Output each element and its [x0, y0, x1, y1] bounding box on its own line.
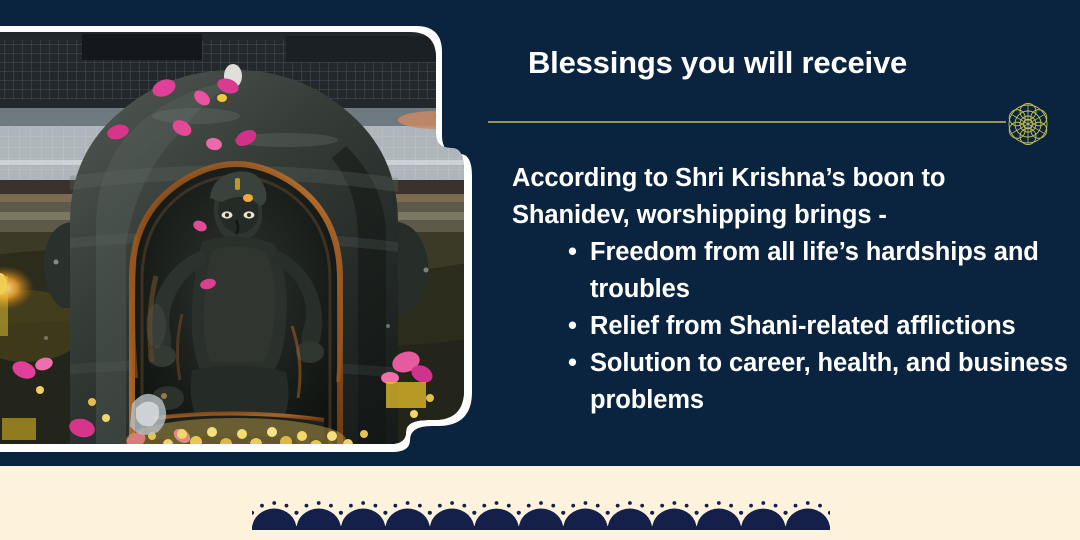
- list-item: • Solution to career, health, and busine…: [512, 345, 1068, 419]
- page-title: Blessings you will receive: [528, 44, 907, 81]
- list-item-label: Freedom from all life’s hardships and tr…: [590, 238, 1039, 303]
- blessings-list: • Freedom from all life’s hardships and …: [512, 234, 1068, 419]
- blessings-body: According to Shri Krishna’s boon to Shan…: [512, 160, 1068, 419]
- bullet-icon: •: [568, 308, 577, 345]
- bullet-icon: •: [568, 234, 577, 271]
- list-item-label: Solution to career, health, and business…: [590, 349, 1068, 414]
- gold-divider-rule: [488, 121, 1006, 123]
- lead-paragraph: According to Shri Krishna’s boon to Shan…: [512, 160, 1068, 234]
- mandala-rosette-icon: [1002, 98, 1054, 150]
- content-column: Blessings you will receive: [0, 0, 1080, 466]
- list-item-label: Relief from Shani-related afflictions: [590, 312, 1016, 340]
- list-item: • Relief from Shani-related afflictions: [512, 308, 1068, 345]
- scalloped-arch-border: [252, 482, 830, 532]
- list-item: • Freedom from all life’s hardships and …: [512, 234, 1068, 308]
- bullet-icon: •: [568, 345, 577, 382]
- slide-canvas: Blessings you will receive: [0, 0, 1080, 540]
